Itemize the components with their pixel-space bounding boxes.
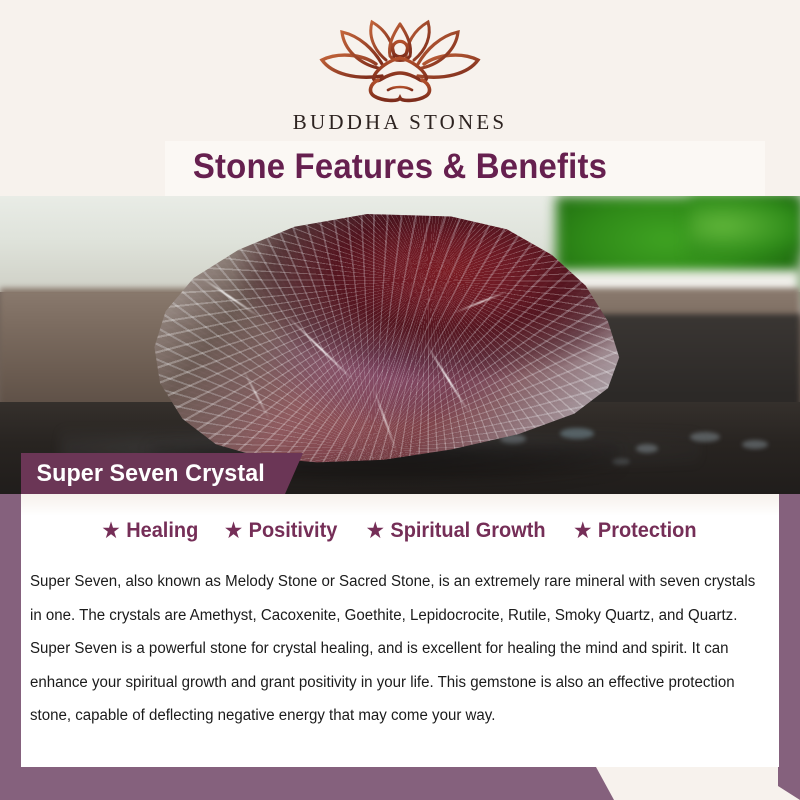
frame-band-bottom — [0, 767, 800, 800]
star-icon: ★ — [103, 521, 120, 541]
benefit-item-protection: ★ Protection — [574, 519, 696, 543]
benefit-item-healing: ★ Healing — [103, 519, 199, 543]
product-photo — [0, 196, 800, 494]
star-icon: ★ — [366, 521, 383, 541]
benefit-item-spiritual-growth: ★ Spiritual Growth — [366, 519, 545, 543]
star-icon: ★ — [574, 521, 591, 541]
stone-name-badge: Super Seven Crystal — [21, 453, 303, 494]
page-title: Stone Features & Benefits — [24, 142, 776, 192]
benefit-label: Protection — [598, 519, 697, 543]
benefit-label: Positivity — [249, 519, 338, 543]
benefits-row: ★ Healing ★ Positivity ★ Spiritual Growt… — [21, 519, 779, 543]
content-top-fade — [21, 494, 779, 516]
photo-background-foliage-highlight — [690, 196, 800, 256]
benefit-label: Spiritual Growth — [390, 519, 545, 543]
description-paragraph: Super Seven, also known as Melody Stone … — [30, 565, 759, 733]
benefit-item-positivity: ★ Positivity — [225, 519, 337, 543]
star-icon: ★ — [225, 521, 242, 541]
infographic-page: BUDDHA STONES Stone Features & Benefits — [0, 0, 800, 800]
stone-name-text: Super Seven Crystal — [21, 460, 265, 488]
benefit-label: Healing — [127, 519, 199, 543]
brand-name: BUDDHA STONES — [293, 110, 508, 135]
lotus-meditation-icon — [312, 18, 488, 104]
content-section: ★ Healing ★ Positivity ★ Spiritual Growt… — [21, 494, 779, 767]
brand-logo: BUDDHA STONES — [0, 18, 800, 135]
